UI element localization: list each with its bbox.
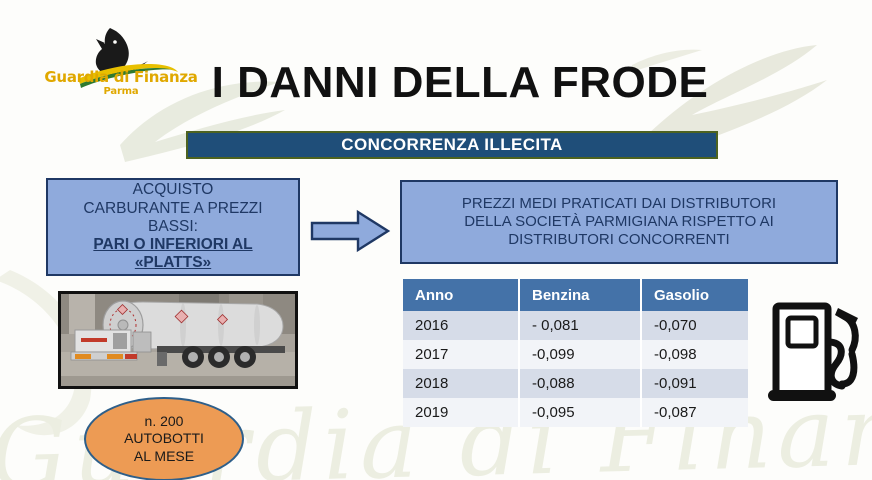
box-right-line3: DISTRIBUTORI CONCORRENTI — [508, 231, 729, 249]
cell-anno: 2017 — [403, 340, 519, 369]
ellipse-line2: AUTOBOTTI — [124, 430, 204, 447]
ellipse-line1: n. 200 — [145, 413, 184, 430]
table-row: 2016 - 0,081 -0,070 — [403, 311, 748, 340]
box-left-line2: CARBURANTE A PREZZI — [83, 200, 262, 218]
table-row: 2019 -0,095 -0,087 — [403, 398, 748, 427]
column-header-gasolio: Gasolio — [641, 279, 748, 311]
autobotti-count-callout: n. 200 AUTOBOTTI AL MESE — [84, 397, 244, 480]
box-left-line1: ACQUISTO — [133, 181, 214, 199]
cell-anno: 2018 — [403, 369, 519, 398]
cell-benzina: -0,095 — [519, 398, 641, 427]
fuel-pump-icon — [766, 298, 864, 406]
table-row: 2018 -0,088 -0,091 — [403, 369, 748, 398]
cell-benzina: -0,099 — [519, 340, 641, 369]
tanker-trailer-image — [61, 294, 295, 386]
cell-gasolio: -0,091 — [641, 369, 748, 398]
cell-gasolio: -0,087 — [641, 398, 748, 427]
box-left-line4: PARI O INFERIORI AL — [93, 236, 252, 254]
table-header-row: Anno Benzina Gasolio — [403, 279, 748, 311]
ellipse-line3: AL MESE — [134, 448, 194, 465]
cell-benzina: - 0,081 — [519, 311, 641, 340]
acquisto-carburante-box: ACQUISTO CARBURANTE A PREZZI BASSI: PARI… — [46, 178, 300, 276]
price-comparison-table: Anno Benzina Gasolio 2016 - 0,081 -0,070… — [403, 279, 748, 427]
box-left-line3: BASSI: — [148, 218, 198, 236]
cell-gasolio: -0,098 — [641, 340, 748, 369]
box-right-line2: DELLA SOCIETÀ PARMIGIANA RISPETTO AI — [464, 213, 774, 231]
cell-gasolio: -0,070 — [641, 311, 748, 340]
prezzi-medi-box: PREZZI MEDI PRATICATI DAI DISTRIBUTORI D… — [400, 180, 838, 264]
column-header-benzina: Benzina — [519, 279, 641, 311]
box-right-line1: PREZZI MEDI PRATICATI DAI DISTRIBUTORI — [462, 195, 776, 213]
slide-canvas: Guardia di Finanza Guardia di Finanza Pa… — [0, 0, 872, 480]
table-row: 2017 -0,099 -0,098 — [403, 340, 748, 369]
page-title: I DANNI DELLA FRODE — [150, 58, 770, 108]
arrow-right-icon — [308, 207, 392, 255]
cell-anno: 2016 — [403, 311, 519, 340]
cell-benzina: -0,088 — [519, 369, 641, 398]
box-left-line5: «PLATTS» — [135, 254, 211, 272]
column-header-anno: Anno — [403, 279, 519, 311]
cell-anno: 2019 — [403, 398, 519, 427]
subtitle-banner: CONCORRENZA ILLECITA — [186, 131, 718, 159]
tanker-trailer-photo — [58, 291, 298, 389]
subtitle-banner-label: CONCORRENZA ILLECITA — [341, 135, 562, 155]
